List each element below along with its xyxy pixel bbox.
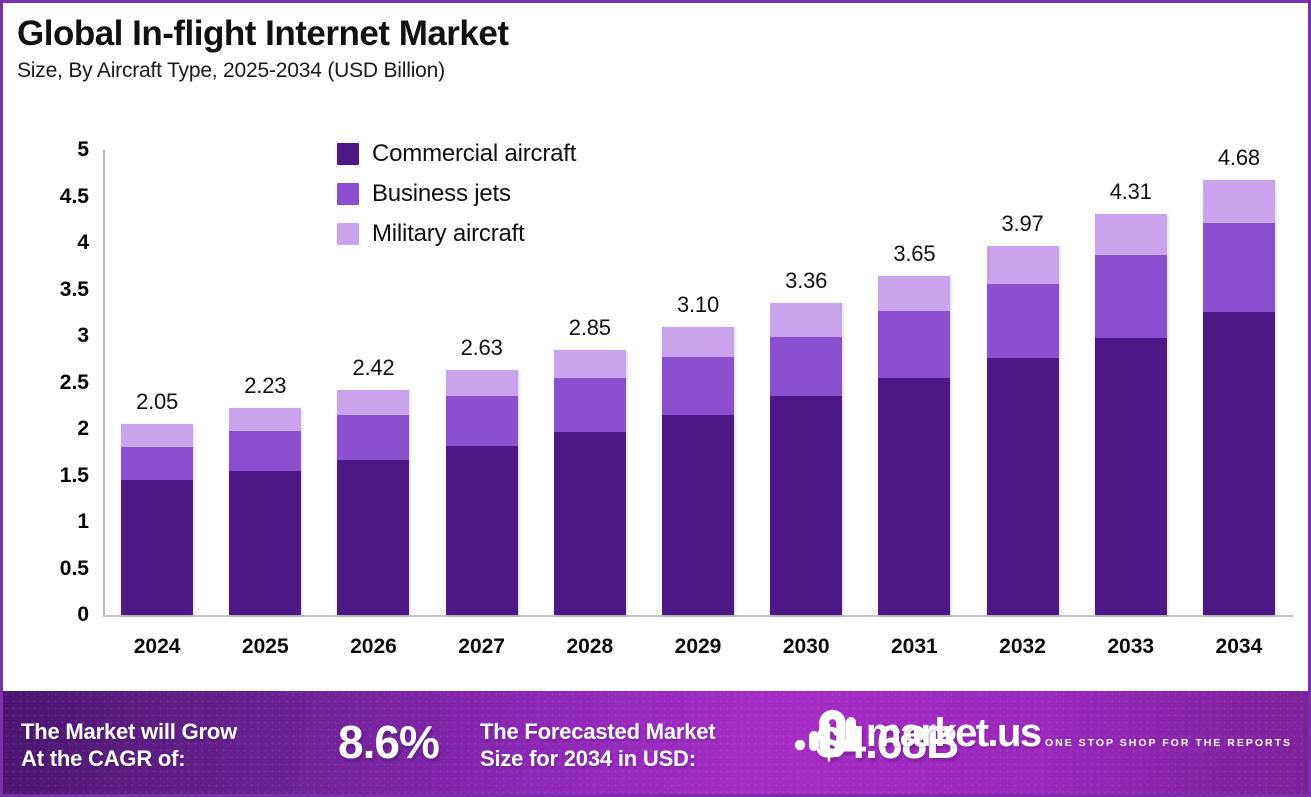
bar-segment-commercial-aircraft[interactable]: [337, 460, 409, 615]
bar-segment-military-aircraft[interactable]: [987, 246, 1059, 284]
chart-header: Global In-flight Internet Market Size, B…: [17, 15, 1298, 83]
bar-segment-business-jets[interactable]: [770, 337, 842, 397]
y-axis-tick: 1: [17, 510, 89, 534]
bar-segment-commercial-aircraft[interactable]: [1095, 338, 1167, 615]
bar-segment-military-aircraft[interactable]: [229, 408, 301, 431]
y-axis-tick: 0.5: [17, 557, 89, 581]
bar-value-label: 2.05: [136, 389, 178, 415]
y-axis-tick: 3.5: [17, 278, 89, 302]
x-axis-tick-2026: 2026: [318, 635, 428, 659]
bar-segment-commercial-aircraft[interactable]: [446, 446, 518, 615]
bar-segment-business-jets[interactable]: [446, 396, 518, 446]
bar-group-2034[interactable]: 4.68: [1203, 180, 1275, 615]
bar-segment-military-aircraft[interactable]: [770, 303, 842, 337]
bar-segment-commercial-aircraft[interactable]: [554, 432, 626, 615]
y-axis-tick: 5: [17, 138, 89, 162]
bar-segment-commercial-aircraft[interactable]: [662, 415, 734, 615]
bar-segment-business-jets[interactable]: [229, 431, 301, 471]
bar-group-2030[interactable]: 3.36: [770, 303, 842, 615]
cagr-caption: The Market will Grow At the CAGR of:: [21, 719, 237, 773]
x-axis-tick-2034: 2034: [1184, 635, 1294, 659]
bar-group-2026[interactable]: 2.42: [337, 390, 409, 615]
bar-segment-military-aircraft[interactable]: [662, 327, 734, 358]
x-axis-tick-2031: 2031: [859, 635, 969, 659]
bar-segment-business-jets[interactable]: [878, 311, 950, 378]
bar-segment-business-jets[interactable]: [554, 378, 626, 432]
x-axis-tick-2028: 2028: [535, 635, 645, 659]
stacked-bar[interactable]: 3.97: [987, 246, 1059, 615]
chart-subtitle: Size, By Aircraft Type, 2025-2034 (USD B…: [17, 59, 1298, 83]
bar-segment-business-jets[interactable]: [337, 415, 409, 460]
x-axis-labels: 2024202520262027202820292030203120322033…: [103, 621, 1293, 667]
bar-group-2025[interactable]: 2.23: [229, 408, 301, 615]
bar-value-label: 2.23: [244, 373, 286, 399]
page-title: Global In-flight Internet Market: [17, 15, 1298, 53]
bar-segment-commercial-aircraft[interactable]: [770, 396, 842, 615]
y-axis-labels: 54.543.532.521.510.50: [17, 121, 89, 691]
stacked-bar[interactable]: 3.36: [770, 303, 842, 615]
bar-segment-military-aircraft[interactable]: [878, 276, 950, 311]
bar-value-label: 4.68: [1218, 145, 1260, 171]
stacked-bar[interactable]: 3.65: [878, 276, 950, 615]
bar-value-label: 2.85: [569, 315, 611, 341]
bar-group-2033[interactable]: 4.31: [1095, 214, 1167, 615]
bar-group-2032[interactable]: 3.97: [987, 246, 1059, 615]
bar-value-label: 3.65: [893, 241, 935, 267]
bar-segment-military-aircraft[interactable]: [1203, 180, 1275, 224]
bar-segment-business-jets[interactable]: [662, 357, 734, 415]
logo-name: market.us: [866, 711, 1041, 755]
market-us-logo-icon: [794, 709, 856, 757]
bar-value-label: 3.10: [677, 292, 719, 318]
bar-value-label: 4.31: [1110, 179, 1152, 205]
x-axis-tick-2024: 2024: [102, 635, 212, 659]
logo-tagline: ONE STOP SHOP FOR THE REPORTS: [1045, 737, 1292, 749]
cagr-value: 8.6%: [338, 715, 439, 769]
bar-segment-commercial-aircraft[interactable]: [121, 480, 193, 615]
forecast-caption-line1: The Forecasted Market: [480, 719, 715, 746]
bar-segment-military-aircraft[interactable]: [446, 370, 518, 395]
bar-segment-commercial-aircraft[interactable]: [229, 471, 301, 615]
x-axis-tick-2030: 2030: [751, 635, 861, 659]
bar-value-label: 3.97: [1002, 211, 1044, 237]
stacked-bar[interactable]: 3.10: [662, 327, 734, 615]
bar-segment-military-aircraft[interactable]: [554, 350, 626, 378]
logo-wordmark: market.us ONE STOP SHOP FOR THE REPORTS: [866, 713, 1292, 753]
bar-series-container: 2.052.232.422.632.853.103.363.653.974.31…: [103, 121, 1293, 617]
y-axis-tick: 1.5: [17, 464, 89, 488]
bar-segment-commercial-aircraft[interactable]: [878, 378, 950, 615]
bar-segment-commercial-aircraft[interactable]: [1203, 312, 1275, 615]
bar-segment-business-jets[interactable]: [1203, 223, 1275, 311]
stacked-bar[interactable]: 4.31: [1095, 214, 1167, 615]
bar-group-2029[interactable]: 3.10: [662, 327, 734, 615]
stacked-bar[interactable]: 2.63: [446, 370, 518, 615]
x-axis-tick-2025: 2025: [210, 635, 320, 659]
bar-segment-military-aircraft[interactable]: [1095, 214, 1167, 255]
bar-group-2024[interactable]: 2.05: [121, 424, 193, 615]
brand-logo[interactable]: market.us ONE STOP SHOP FOR THE REPORTS: [794, 709, 1292, 757]
y-axis-tick: 4.5: [17, 185, 89, 209]
x-axis-tick-2032: 2032: [968, 635, 1078, 659]
y-axis-tick: 2: [17, 417, 89, 441]
y-axis-tick: 2.5: [17, 371, 89, 395]
stacked-bar[interactable]: 4.68: [1203, 180, 1275, 615]
y-axis-tick: 4: [17, 231, 89, 255]
bar-segment-business-jets[interactable]: [987, 284, 1059, 358]
bar-segment-commercial-aircraft[interactable]: [987, 358, 1059, 615]
stacked-bar[interactable]: 2.23: [229, 408, 301, 615]
bar-segment-business-jets[interactable]: [1095, 255, 1167, 338]
stacked-bar[interactable]: 2.05: [121, 424, 193, 615]
bar-value-label: 2.63: [461, 335, 503, 361]
cagr-caption-line2: At the CAGR of:: [21, 746, 237, 773]
bar-value-label: 3.36: [785, 268, 827, 294]
bar-group-2031[interactable]: 3.65: [878, 276, 950, 615]
summary-banner: The Market will Grow At the CAGR of: 8.6…: [3, 691, 1308, 794]
cagr-caption-line1: The Market will Grow: [21, 719, 237, 746]
y-axis-tick: 0: [17, 603, 89, 627]
x-axis-tick-2033: 2033: [1076, 635, 1186, 659]
y-axis-tick: 3: [17, 324, 89, 348]
bar-segment-business-jets[interactable]: [121, 447, 193, 480]
bar-segment-military-aircraft[interactable]: [121, 424, 193, 446]
bar-segment-military-aircraft[interactable]: [337, 390, 409, 415]
bar-value-label: 2.42: [352, 355, 394, 381]
x-axis-tick-2027: 2027: [427, 635, 537, 659]
bar-group-2028[interactable]: 2.85: [554, 350, 626, 615]
plot-area: 54.543.532.521.510.50 Commercial aircraf…: [3, 121, 1308, 691]
infographic-frame: Global In-flight Internet Market Size, B…: [0, 0, 1311, 797]
bar-group-2027[interactable]: 2.63: [446, 370, 518, 615]
stacked-bar[interactable]: 2.42: [337, 390, 409, 615]
x-axis-tick-2029: 2029: [643, 635, 753, 659]
stacked-bar[interactable]: 2.85: [554, 350, 626, 615]
forecast-caption: The Forecasted Market Size for 2034 in U…: [480, 719, 715, 773]
forecast-caption-line2: Size for 2034 in USD:: [480, 746, 715, 773]
